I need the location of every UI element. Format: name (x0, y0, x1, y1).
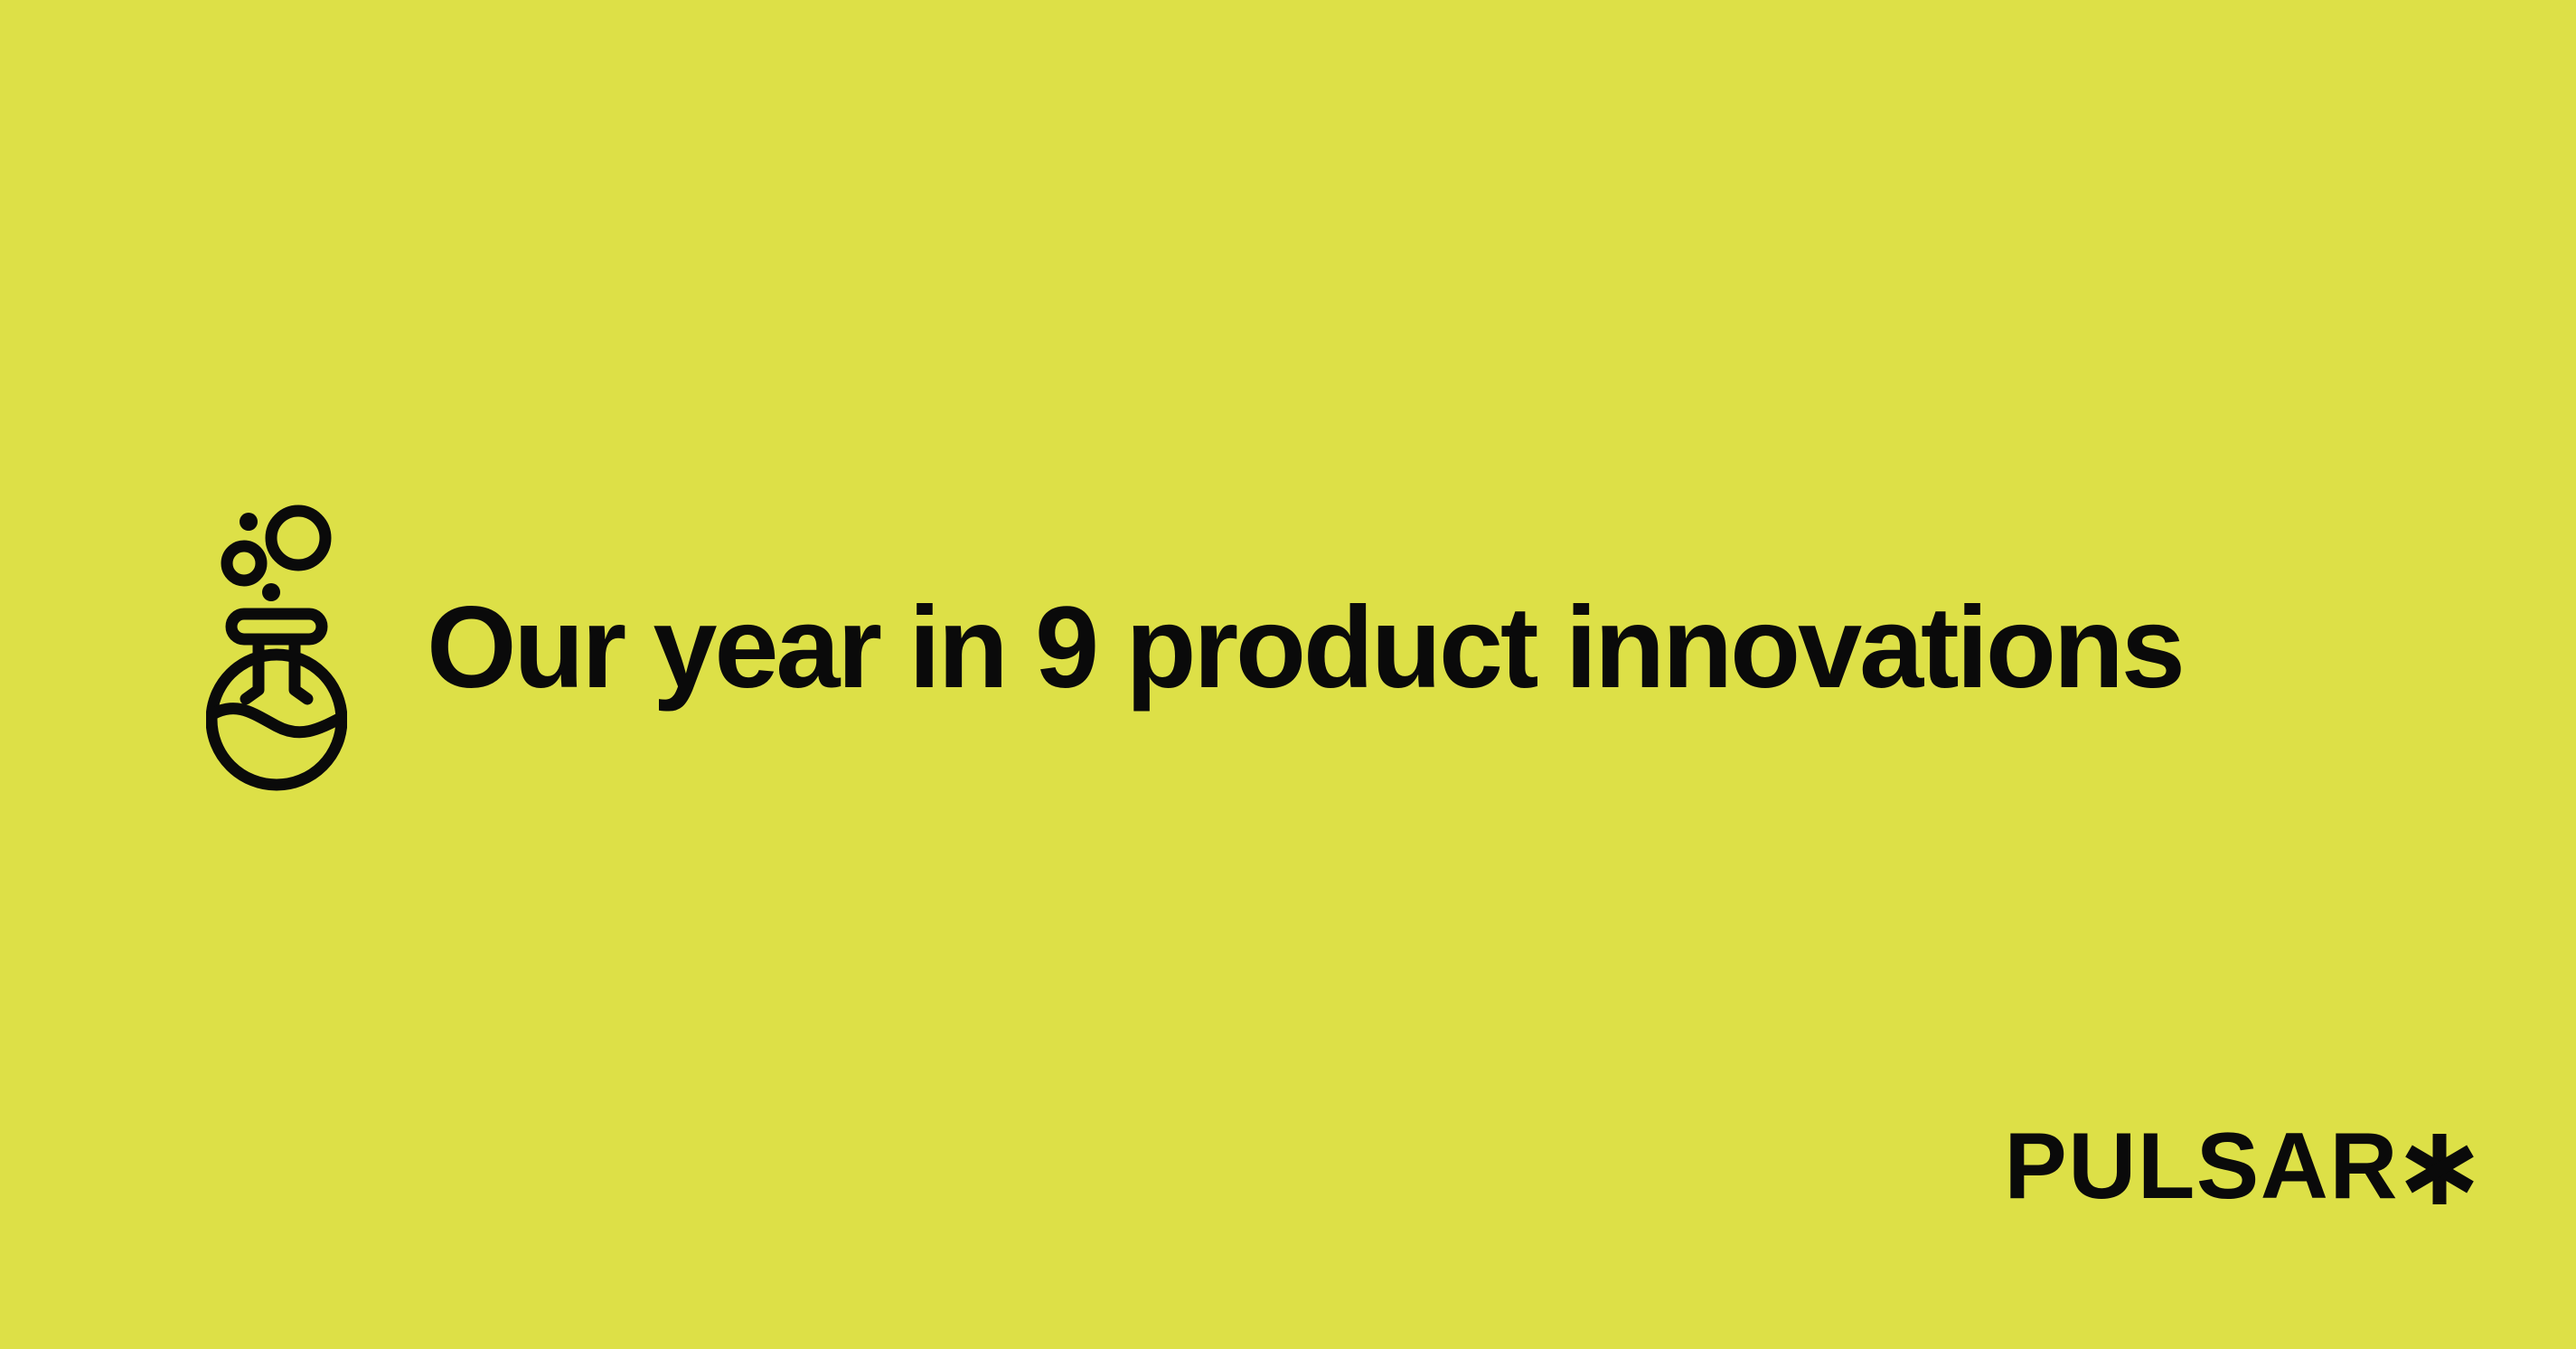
bubble-medium-icon (227, 546, 261, 580)
brand-logo: PULSAR (2004, 1119, 2475, 1213)
asterisk-icon (2404, 1129, 2475, 1209)
bubble-dot-lower-icon (262, 583, 280, 601)
bubble-dot-upper-icon (240, 513, 258, 531)
headline-row: Our year in 9 product innovations (206, 495, 2183, 794)
flask-liquid-wave-icon (212, 709, 341, 732)
brand-wordmark: PULSAR (2004, 1119, 2399, 1213)
bubble-large-icon (271, 511, 325, 565)
page-title: Our year in 9 product innovations (347, 590, 2183, 706)
flask-neck-left-icon (246, 639, 259, 699)
promo-banner: Our year in 9 product innovations PULSAR (0, 0, 2576, 1349)
flask-neck-right-icon (295, 639, 307, 699)
flask-rim-icon (231, 614, 322, 639)
lab-flask-icon (206, 498, 347, 791)
